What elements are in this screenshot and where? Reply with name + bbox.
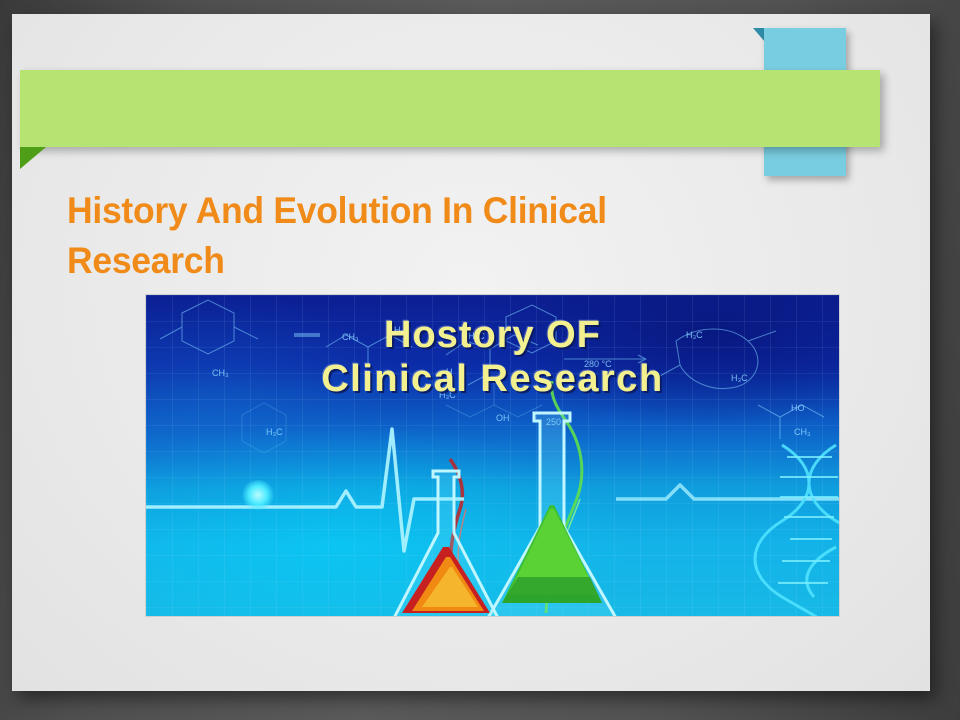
molecule-label: H₃C bbox=[266, 427, 283, 437]
erlenmeyer-flask-orange-icon bbox=[394, 471, 498, 617]
green-banner-fold-icon bbox=[20, 147, 46, 169]
molecule-label: OH bbox=[496, 413, 510, 423]
image-headline-line1: Hostory OF bbox=[146, 313, 839, 357]
erlenmeyer-flask-green-icon bbox=[488, 413, 616, 617]
green-banner-decoration bbox=[20, 70, 880, 147]
molecule-label: 250 bbox=[546, 417, 561, 427]
image-headline-line2: Clinical Research bbox=[146, 357, 839, 401]
page-title: History And Evolution In Clinical Resear… bbox=[67, 186, 739, 286]
presentation-slide: History And Evolution In Clinical Resear… bbox=[12, 14, 930, 691]
molecule-label: CH₃ bbox=[794, 427, 811, 437]
molecule-label: HO bbox=[791, 403, 805, 413]
glowing-dot-icon bbox=[241, 480, 275, 510]
slide-image: CH₃ CH₃ H₃C H H₃C H₃C 280 °C H₂O H₃C HO … bbox=[145, 294, 840, 617]
image-headline: Hostory OF Clinical Research bbox=[146, 313, 839, 401]
